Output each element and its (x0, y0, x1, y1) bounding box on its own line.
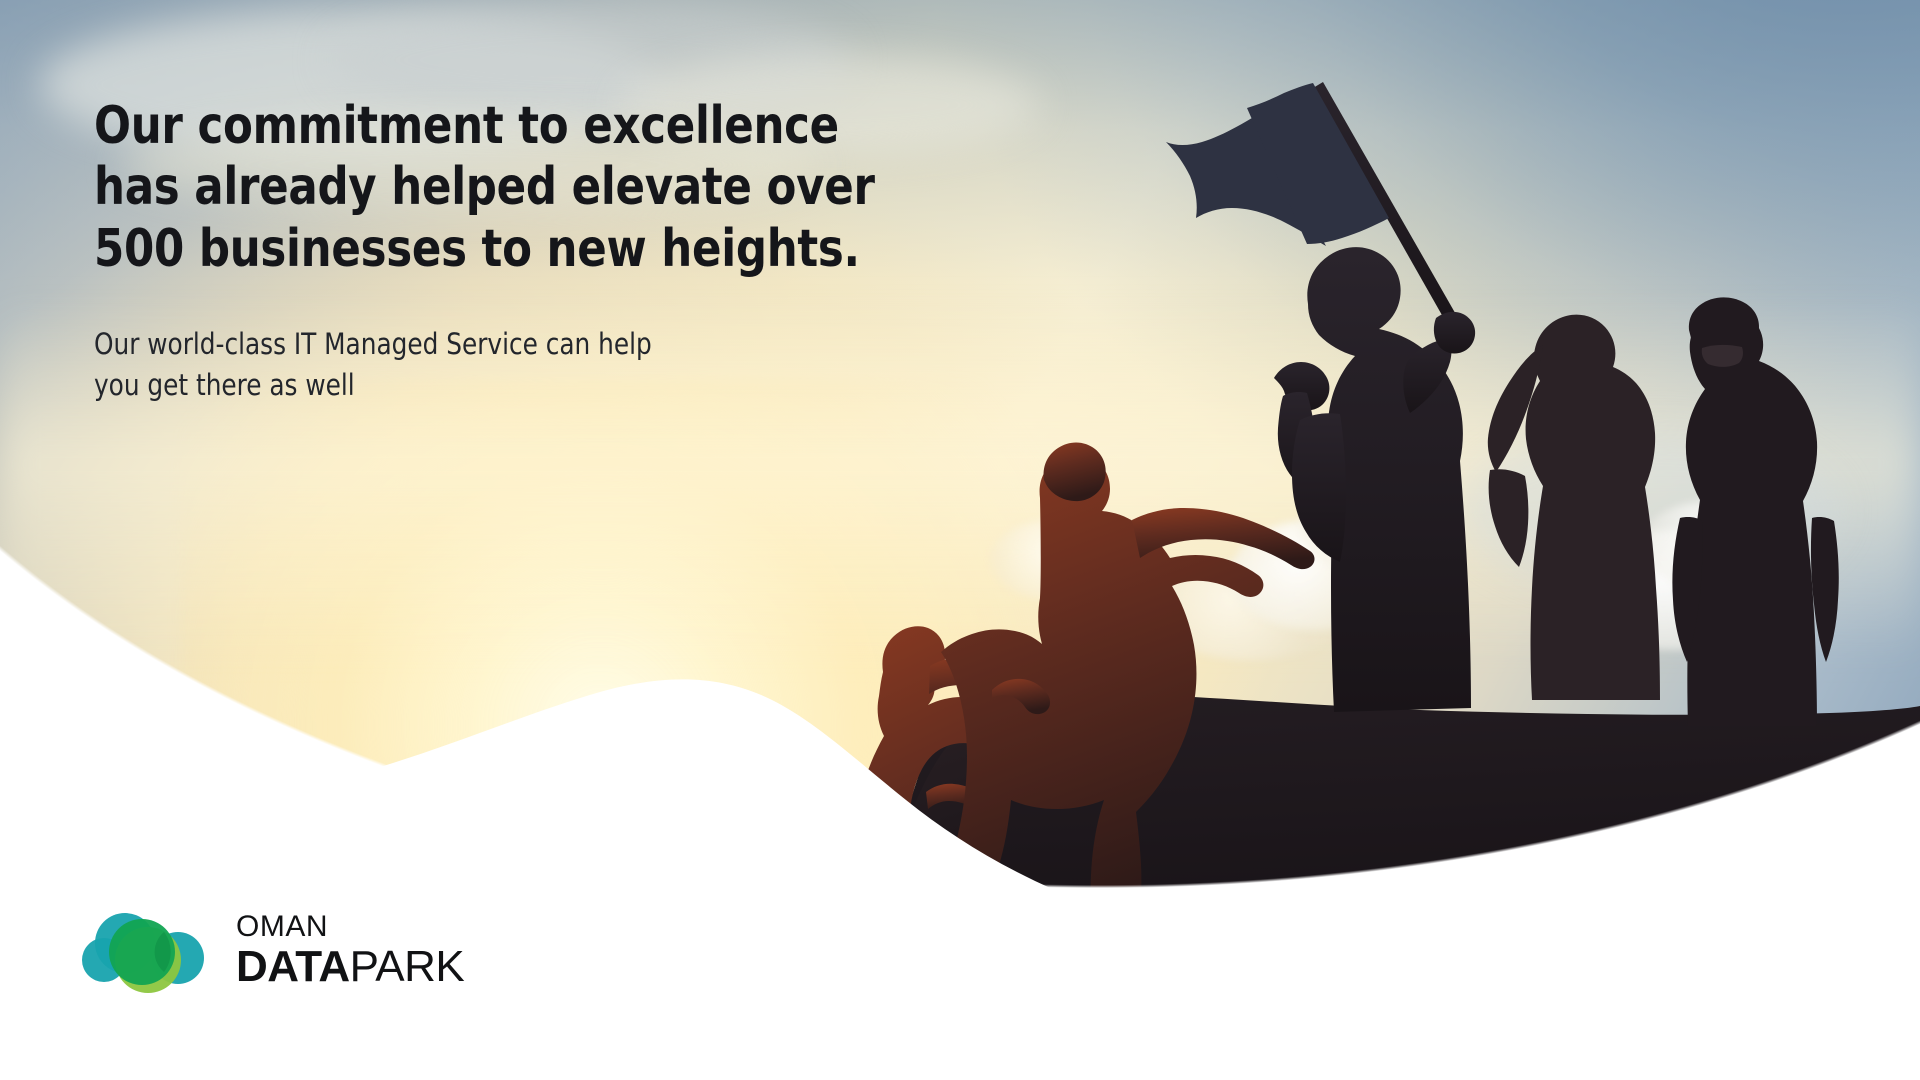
logo-text-park: PARK (350, 942, 465, 991)
logo-text-datapark: DATAPARK (236, 945, 464, 989)
cumulus-cloud-icon (1300, 478, 1420, 570)
subheadline: Our world-class IT Managed Service can h… (94, 324, 968, 406)
dark-cloud-icon (620, 860, 980, 1020)
logo[interactable]: OMAN DATAPARK (78, 900, 464, 1000)
cumulus-cloud-icon (1640, 500, 1790, 590)
oman-data-park-logo-icon (78, 900, 218, 1000)
banner-root: Our commitment to excellence has already… (0, 0, 1920, 1080)
logo-text-oman: OMAN (236, 912, 464, 942)
copy-block: Our commitment to excellence has already… (94, 96, 1014, 406)
logo-wordmark: OMAN DATAPARK (236, 912, 464, 989)
dark-cloud-icon (1240, 860, 1600, 1030)
logo-text-data: DATA (236, 942, 350, 991)
headline: Our commitment to excellence has already… (94, 96, 950, 280)
cumulus-cloud-icon (990, 520, 1120, 600)
